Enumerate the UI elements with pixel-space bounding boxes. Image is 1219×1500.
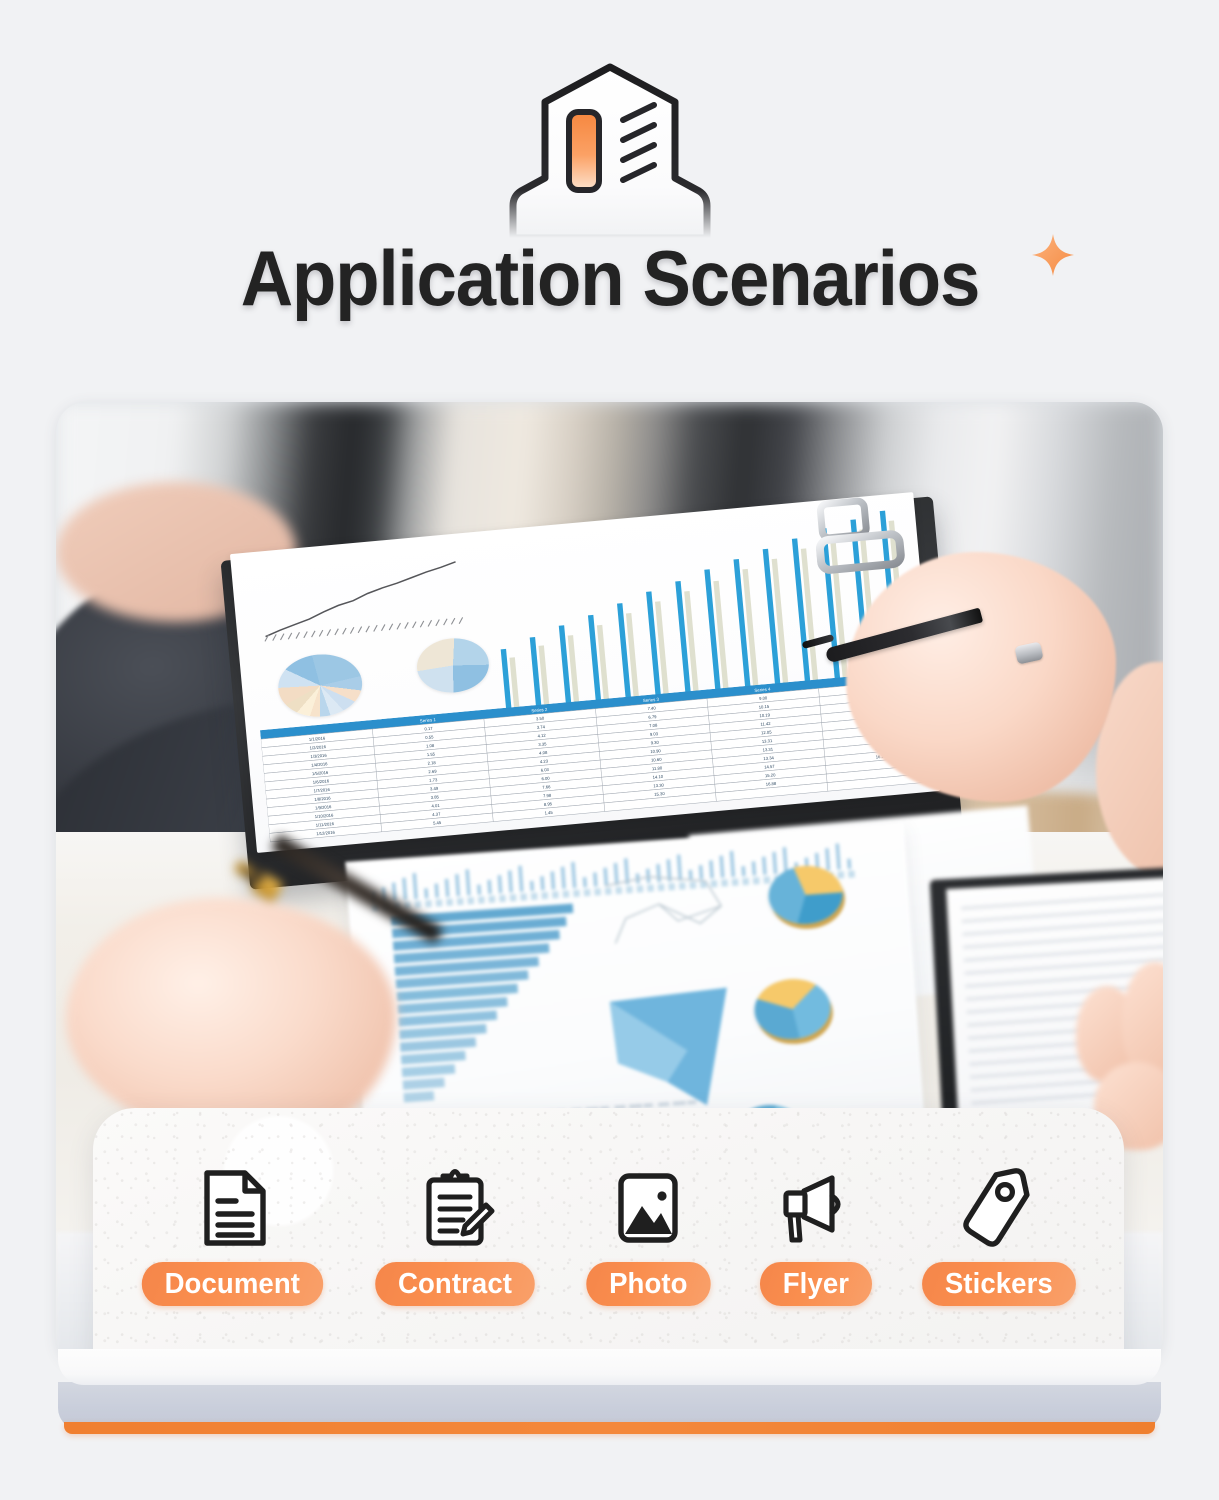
- svg-text:13.31: 13.31: [762, 747, 774, 753]
- badge-photo[interactable]: Photo: [583, 1168, 714, 1306]
- svg-text:2.18: 2.18: [427, 760, 436, 766]
- svg-text:7.98: 7.98: [543, 793, 552, 799]
- svg-text:10.60: 10.60: [651, 757, 663, 763]
- svg-text:13.31: 13.31: [762, 738, 774, 744]
- svg-text:1.45: 1.45: [544, 810, 553, 816]
- header-section: Application Scenarios: [0, 0, 1219, 390]
- svg-text:3.50: 3.50: [536, 716, 545, 722]
- report-line-chart: [253, 551, 469, 650]
- page-title: Application Scenarios: [240, 236, 978, 320]
- svg-text:4.23: 4.23: [540, 758, 549, 764]
- badge-document[interactable]: Document: [137, 1168, 328, 1306]
- building-logo-icon: [503, 60, 717, 238]
- megaphone-icon: [774, 1168, 858, 1248]
- svg-text:10.15: 10.15: [759, 704, 771, 710]
- svg-text:9.30: 9.30: [650, 740, 659, 746]
- svg-text:4.01: 4.01: [431, 803, 440, 809]
- svg-text:0.17: 0.17: [424, 726, 433, 732]
- report-pie-chart-2: [415, 635, 492, 695]
- footer-card-bottom: [58, 1349, 1161, 1385]
- svg-text:15.20: 15.20: [765, 772, 777, 778]
- logo-wrap: [0, 60, 1219, 240]
- svg-text:6.79: 6.79: [648, 714, 657, 720]
- svg-text:15.30: 15.30: [654, 791, 666, 797]
- svg-text:7.66: 7.66: [542, 784, 551, 790]
- svg-text:9.03: 9.03: [650, 731, 659, 737]
- badge-label-photo[interactable]: Photo: [586, 1262, 710, 1306]
- svg-text:3.49: 3.49: [430, 786, 439, 792]
- svg-text:2.69: 2.69: [428, 769, 437, 775]
- svg-text:9.00: 9.00: [759, 695, 768, 701]
- badge-stickers[interactable]: Stickers: [918, 1168, 1080, 1306]
- badge-label-stickers[interactable]: Stickers: [922, 1262, 1076, 1306]
- svg-text:4.08: 4.08: [539, 750, 548, 756]
- badge-flyer[interactable]: Flyer: [757, 1168, 875, 1306]
- svg-text:14.57: 14.57: [764, 764, 776, 770]
- svg-text:0.55: 0.55: [425, 734, 434, 740]
- svg-text:6.03: 6.03: [540, 767, 549, 773]
- svg-text:7.08: 7.08: [649, 723, 658, 729]
- svg-text:14.10: 14.10: [652, 774, 664, 780]
- footer-orange-accent: [64, 1422, 1155, 1434]
- svg-text:4.37: 4.37: [432, 811, 441, 817]
- svg-text:13.30: 13.30: [653, 782, 665, 788]
- contract-clipboard-pencil-icon: [413, 1168, 497, 1248]
- paper-pie-chart-2: [753, 977, 833, 1042]
- photo-image-icon: [606, 1168, 690, 1248]
- price-tag-icon: [957, 1168, 1041, 1248]
- paper-scatter-outline-chart: [597, 865, 742, 955]
- foreground-palm: [66, 898, 396, 1142]
- svg-text:3.35: 3.35: [538, 741, 547, 747]
- svg-text:16.88: 16.88: [766, 781, 778, 787]
- svg-text:7.40: 7.40: [647, 705, 656, 711]
- report-pie-chart-1: [276, 651, 365, 720]
- svg-text:6.00: 6.00: [541, 775, 550, 781]
- svg-text:4.12: 4.12: [537, 733, 546, 739]
- svg-text:1.08: 1.08: [426, 743, 435, 749]
- svg-text:13.34: 13.34: [763, 755, 775, 761]
- svg-text:8.95: 8.95: [544, 801, 553, 807]
- svg-text:10.90: 10.90: [650, 748, 662, 754]
- page-root: Application Scenarios: [0, 0, 1219, 1500]
- badge-list: Document Contract: [137, 1168, 1080, 1338]
- svg-text:1.55: 1.55: [427, 751, 436, 757]
- svg-text:11.80: 11.80: [652, 765, 663, 771]
- document-icon: [190, 1168, 274, 1248]
- svg-text:5.45: 5.45: [433, 820, 442, 826]
- badge-contract[interactable]: Contract: [371, 1168, 539, 1306]
- sparkle-icon: [1030, 232, 1076, 278]
- svg-text:3.74: 3.74: [537, 724, 546, 730]
- paper-funnel-chart: [603, 985, 741, 1114]
- svg-text:11.42: 11.42: [760, 721, 771, 727]
- badge-label-contract[interactable]: Contract: [375, 1262, 535, 1306]
- svg-text:12.05: 12.05: [761, 729, 773, 735]
- badge-label-flyer[interactable]: Flyer: [760, 1262, 872, 1306]
- svg-text:3.85: 3.85: [431, 794, 440, 800]
- svg-text:1.73: 1.73: [429, 777, 438, 783]
- right-palm: [846, 552, 1116, 802]
- svg-text:10.19: 10.19: [759, 712, 771, 718]
- badge-label-document[interactable]: Document: [142, 1262, 323, 1306]
